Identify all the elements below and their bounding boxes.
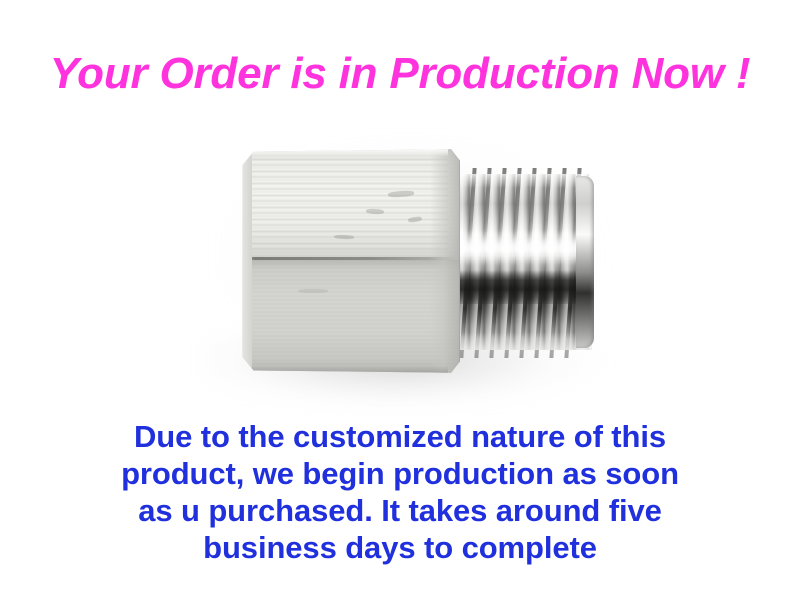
thread-shadow-band bbox=[452, 270, 592, 304]
notice-line: as u purchased. It takes around five bbox=[0, 492, 800, 529]
hex-body bbox=[238, 147, 460, 375]
production-notice: Due to the customized nature of this pro… bbox=[0, 418, 800, 566]
promo-banner: Your Order is in Production Now ! bbox=[0, 0, 800, 600]
thread-end-cap bbox=[576, 176, 594, 348]
thread-top-edge bbox=[452, 174, 592, 188]
hex-outline bbox=[238, 147, 460, 375]
thread-specular-highlight bbox=[454, 230, 590, 264]
thread-bottom-edge bbox=[452, 332, 592, 350]
notice-line: product, we begin production as soon bbox=[0, 455, 800, 492]
threaded-male-end bbox=[452, 174, 592, 350]
page-title: Your Order is in Production Now ! bbox=[0, 48, 800, 100]
notice-line: business days to complete bbox=[0, 529, 800, 566]
notice-line: Due to the customized nature of this bbox=[0, 418, 800, 455]
product-photo bbox=[180, 110, 620, 410]
